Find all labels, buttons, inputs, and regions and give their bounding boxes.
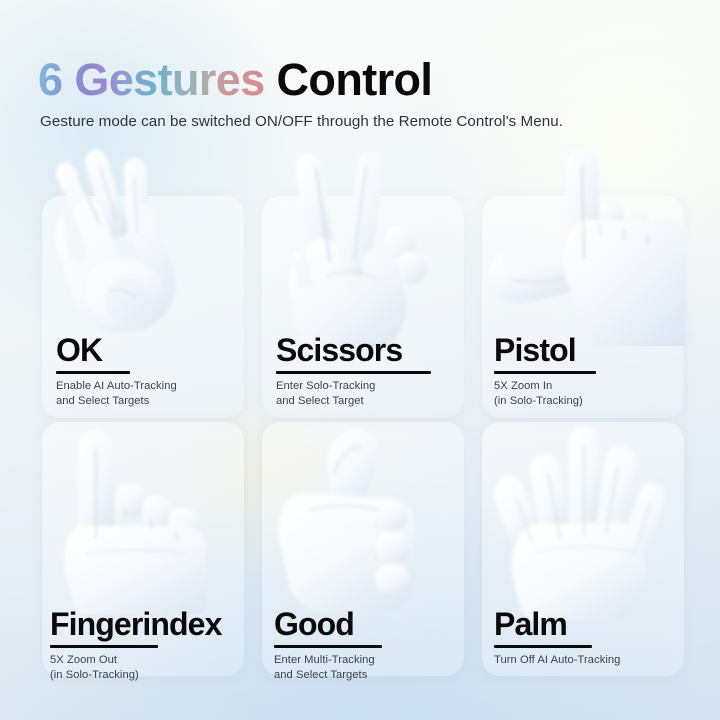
gesture-underline [494,371,596,374]
gesture-caption-pistol: Pistol 5X Zoom In (in Solo-Tracking) [494,334,684,409]
gesture-caption-palm: Palm Turn Off AI Auto-Tracking [494,608,694,668]
gesture-description: 5X Zoom Out (in Solo-Tracking) [50,653,250,683]
gesture-name: Scissors [276,334,402,366]
gesture-description: Turn Off AI Auto-Tracking [494,653,694,668]
gesture-underline [494,645,592,648]
gesture-caption-ok: OK Enable AI Auto-Tracking and Select Ta… [56,334,246,409]
gesture-underline [274,645,382,648]
gesture-name: Good [274,608,354,640]
gesture-underline [276,371,431,374]
gesture-name: Palm [494,608,567,640]
gesture-control-infographic: 6 Gestures Control Gesture mode can be s… [0,0,720,720]
gesture-name: Fingerindex [50,608,221,640]
gesture-description: Enter Multi-Tracking and Select Targets [274,653,474,683]
gesture-underline [50,645,158,648]
gesture-description: 5X Zoom In (in Solo-Tracking) [494,379,684,409]
gesture-description: Enter Solo-Tracking and Select Target [276,379,466,409]
gesture-caption-good: Good Enter Multi-Tracking and Select Tar… [274,608,474,683]
gesture-card-grid: OK Enable AI Auto-Tracking and Select Ta… [0,0,720,720]
gesture-name: OK [56,334,102,366]
gesture-caption-scissors: Scissors Enter Solo-Tracking and Select … [276,334,466,409]
gesture-underline [56,371,130,374]
gesture-caption-fingerindex: Fingerindex 5X Zoom Out (in Solo-Trackin… [50,608,250,683]
gesture-description: Enable AI Auto-Tracking and Select Targe… [56,379,246,409]
gesture-name: Pistol [494,334,576,366]
